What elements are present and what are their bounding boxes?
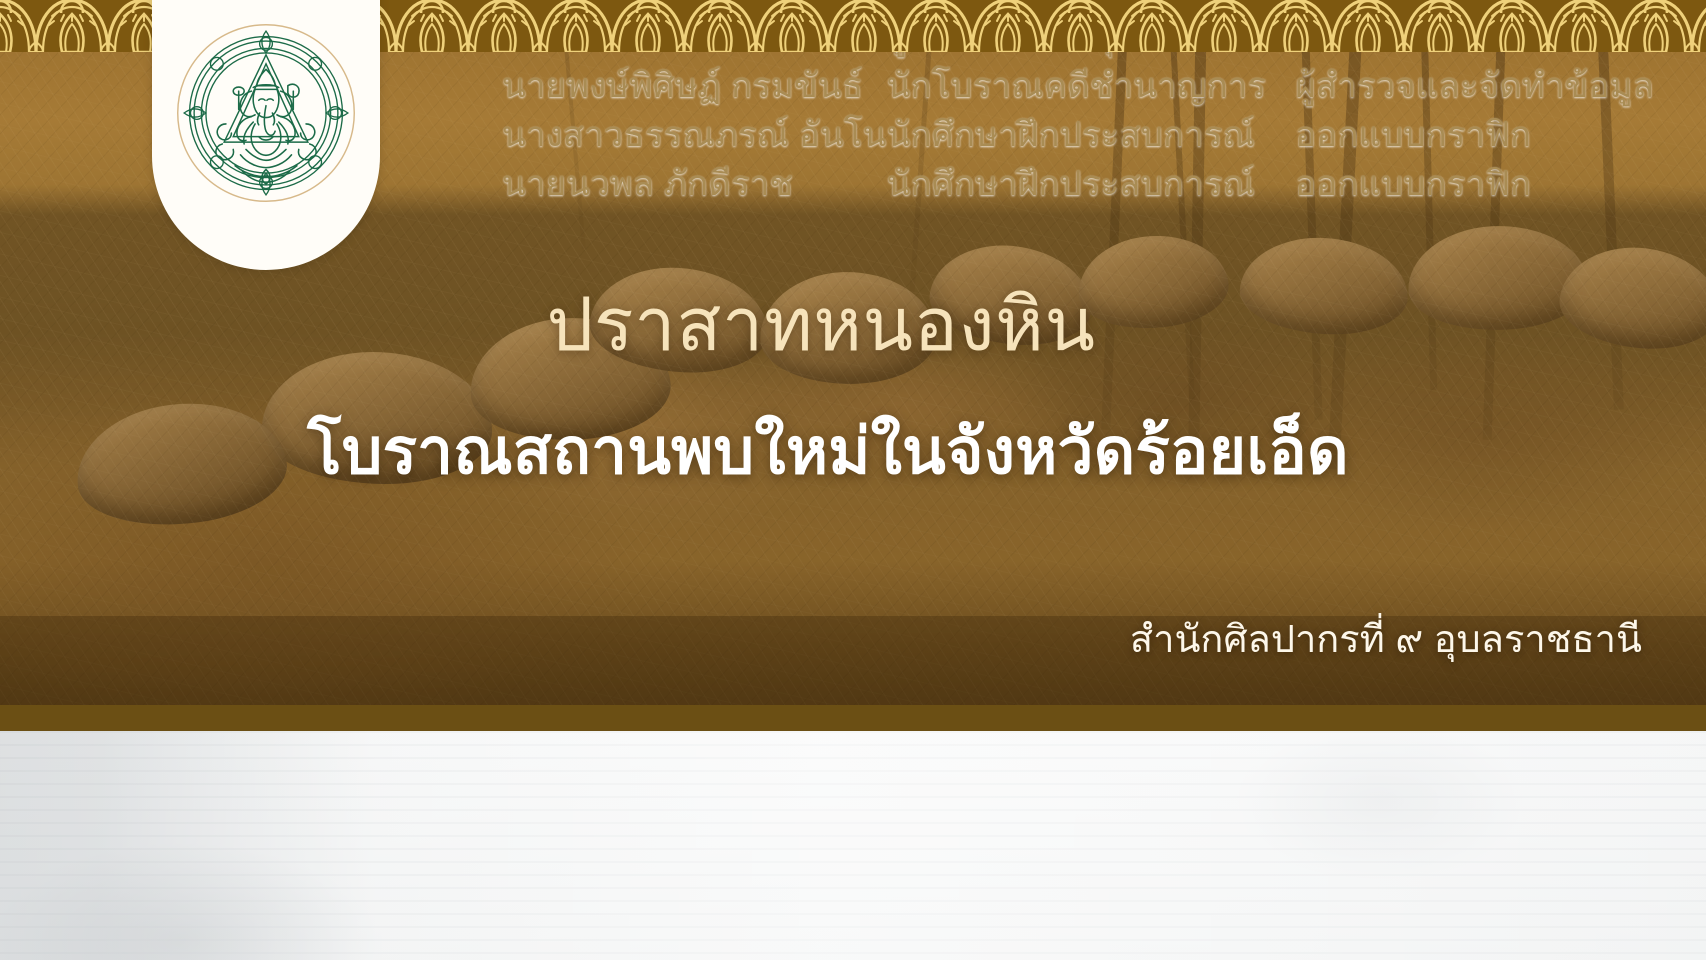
credit-role: ออกแบบกราฟิก (1295, 112, 1654, 161)
poster-subtitle: โบราณสถานพบใหม่ในจังหวัดร้อยเอ็ด (0, 418, 1656, 485)
credit-role: ผู้สำรวจและจัดทำข้อมูล (1295, 63, 1654, 112)
divider-bar (0, 705, 1706, 731)
logo-tag (152, 0, 380, 270)
fine-arts-department-ganesha-emblem (175, 22, 357, 204)
credits-footer (0, 731, 1706, 960)
poster-title: ปราสาทหนองหิน (0, 288, 1642, 362)
credit-position: นักศึกษาฝึกประสบการณ์ (887, 161, 1296, 210)
credit-name: นางสาวธรรณภรณ์ อันโน (502, 112, 887, 161)
table-row: นายนวพล ภักดีราช นักศึกษาฝึกประสบการณ์ อ… (502, 161, 1654, 210)
credit-name: นายพงษ์พิศิษฏ์ กรมขันธ์ (502, 63, 887, 112)
table-row: นางสาวธรรณภรณ์ อันโน นักศึกษาฝึกประสบการ… (502, 112, 1654, 161)
credit-position: นักโบราณคดีชำนาญการ (887, 63, 1296, 112)
credit-role: ออกแบบกราฟิก (1295, 161, 1654, 210)
organization-line: สำนักศิลปากรที่ ๙ อุบลราชธานี (1130, 618, 1642, 664)
credit-position: นักศึกษาฝึกประสบการณ์ (887, 112, 1296, 161)
poster-slide: ปราสาทหนองหิน โบราณสถานพบใหม่ในจังหวัดร้… (0, 0, 1706, 960)
table-row: นายพงษ์พิศิษฏ์ กรมขันธ์ นักโบราณคดีชำนาญ… (502, 63, 1654, 112)
footer-white-wash (0, 731, 1706, 960)
credit-name: นายนวพล ภักดีราช (502, 161, 887, 210)
